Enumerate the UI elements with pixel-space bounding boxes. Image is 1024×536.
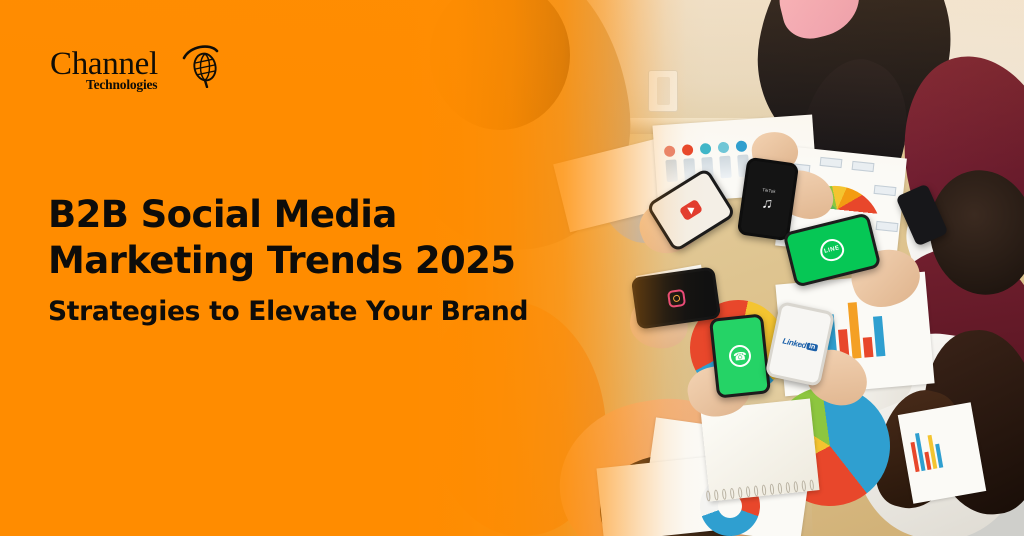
headline-block: B2B Social Media Marketing Trends 2025 S… xyxy=(48,192,568,329)
headline-line-2: Marketing Trends 2025 xyxy=(48,238,568,284)
marketing-banner: TikTok ♫ LINE ☎ Linkedin xyxy=(0,0,1024,536)
headline-line-1: B2B Social Media xyxy=(48,192,568,238)
globe-antenna-icon xyxy=(180,44,220,88)
headline-subtitle: Strategies to Elevate Your Brand xyxy=(48,295,568,329)
brand-logo[interactable]: Channel Technologies xyxy=(50,48,210,106)
